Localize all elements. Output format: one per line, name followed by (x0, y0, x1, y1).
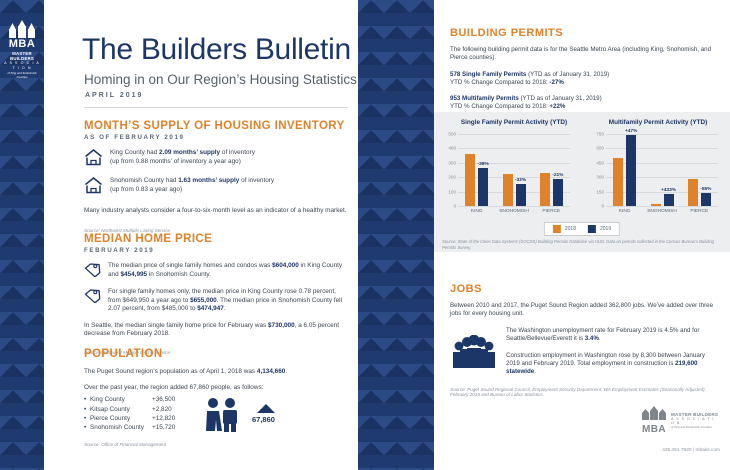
population-badge: 67,860 (252, 415, 275, 424)
issue-date: APRIL 2019 (85, 92, 143, 99)
county-value: +12,820 (152, 414, 175, 423)
inventory-1-line2: (up from 0.83 a year ago) (110, 186, 182, 193)
county-name: Snohomish County (90, 423, 152, 432)
bar-king-2019 (478, 168, 488, 206)
inventory-1-value: 1.63 months’ supply (178, 177, 239, 184)
masthead-divider (84, 107, 348, 108)
legend-label: 2018 (565, 226, 576, 232)
chart-0-title: Single Family Permit Activity (YTD) (450, 119, 578, 126)
y-axis-tick: 0 (453, 204, 456, 209)
y-axis-tick: 750 (596, 132, 604, 137)
sf-change-label: YTD % Change Compared to 2018: (450, 79, 549, 86)
bar-annotation: -21% (552, 173, 563, 178)
jobs-heading: JOBS (450, 283, 718, 295)
mf-change-value: +22% (549, 103, 565, 110)
jobs-intro: Between 2010 and 2017, the Puget Sound R… (450, 302, 718, 319)
house-icon (84, 149, 103, 171)
chart-multifamily: 0150300450600750+47%KING+433%SNOHOMISH-5… (606, 134, 718, 206)
permits-single-family: 578 Single Family Permits (YTD as of Jan… (450, 71, 718, 88)
chart-legend: 2018 2019 (544, 222, 620, 236)
county-name: Pierce County (90, 414, 152, 423)
page-subtitle: Homing in on Our Region’s Housing Statis… (84, 72, 357, 87)
page-title: The Builders Bulletin (82, 33, 351, 67)
gridline (606, 134, 718, 135)
gridline (458, 206, 570, 207)
center-chevron-band (358, 0, 434, 470)
inventory-0-text-a: King County had (110, 149, 159, 156)
county-value: +36,500 (152, 395, 175, 404)
gridline (606, 148, 718, 149)
county-name: King County (90, 395, 152, 404)
inventory-item: Snohomish County had 1.63 months’ supply… (84, 177, 348, 199)
median-price-subheading: FEBRUARY 2019 (84, 247, 348, 254)
footer-line2: A S S O C I A T I O N (671, 417, 720, 425)
county-value: +2,820 (152, 405, 172, 414)
people-icon (202, 397, 246, 438)
bar-snohomish-2018 (651, 204, 661, 206)
legend-item-2019: 2019 (588, 225, 611, 233)
jobs-source: Source: Puget Sound Regional Council, Em… (450, 387, 718, 397)
jobs-p2-c: . (534, 368, 536, 375)
logo-line1: MASTER BUILDERS (4, 51, 40, 61)
permit-charts-panel: Single Family Permit Activity (YTD) Mult… (434, 112, 730, 252)
bulletin-page: MBA MASTER BUILDERS A S S O C I A T I O … (0, 0, 730, 470)
county-name: Kitsap County (90, 405, 152, 414)
bar-pierce-2018 (688, 179, 698, 206)
logo-line3: of King and Snohomish Counties (4, 71, 40, 79)
section-inventory: MONTH’S SUPPLY OF HOUSING INVENTORY AS O… (84, 120, 348, 233)
permits-heading: BUILDING PERMITS (450, 27, 718, 39)
inventory-heading: MONTH’S SUPPLY OF HOUSING INVENTORY (84, 120, 348, 132)
population-p1-c: . (285, 368, 287, 375)
mf-permit-period: (YTD as of January 31, 2019) (519, 95, 602, 102)
x-axis-label: KING (471, 209, 483, 214)
population-p2: Over the past year, the region added 67,… (84, 384, 348, 393)
population-source: Source: Office of Financial Management (84, 442, 348, 447)
county-value: +15,720 (152, 423, 175, 432)
x-axis-label: SNOHOMISH (647, 209, 677, 214)
inventory-1-text-c: of inventory (239, 177, 274, 184)
footer-logo: MBA MASTER BUILDERS A S S O C I A T I O … (640, 406, 720, 435)
median-p1-snohomish: $454,995 (120, 271, 147, 278)
bar-annotation: +433% (661, 188, 676, 193)
population-heading: POPULATION (84, 348, 348, 360)
inventory-source: Source: Northwest Multiple Listing Servi… (84, 228, 348, 233)
mba-logo: MBA MASTER BUILDERS A S S O C I A T I O … (4, 20, 40, 79)
tag-icon (84, 288, 101, 314)
footer-logo-mark: MBA (640, 406, 668, 435)
bar-king-2018 (465, 154, 475, 206)
population-total: 4,134,660 (257, 368, 285, 375)
sf-permit-count: 578 Single Family Permits (450, 71, 526, 78)
median-p2-snohomish: $474,947 (197, 305, 224, 312)
jobs-construction: Construction employment in Washington ro… (506, 352, 718, 377)
section-population: POPULATION The Puget Sound region’s popu… (84, 348, 348, 447)
footer-roof-icon (640, 406, 668, 420)
bar-king-2018 (613, 158, 623, 206)
group-people-icon (450, 327, 498, 377)
median-p2-e: . (224, 305, 226, 312)
logo-mba-text: MBA (4, 39, 40, 50)
permits-multifamily: 953 Multifamily Permits (YTD as of Janua… (450, 95, 718, 112)
y-axis-tick: 200 (448, 175, 456, 180)
median-price-heading: MEDIAN HOME PRICE (84, 233, 348, 245)
mf-permit-count: 953 Multifamily Permits (450, 95, 519, 102)
x-axis-label: PIERCE (690, 209, 708, 214)
y-axis-tick: 0 (601, 204, 604, 209)
footer-logo-mba: MBA (640, 425, 668, 435)
gridline (606, 206, 718, 207)
population-p1: The Puget Sound region’s population as o… (84, 368, 348, 377)
inventory-0-text-c: of inventory (220, 149, 255, 156)
median-price-item: For single family homes only, the median… (84, 288, 348, 314)
bar-annotation: -38% (478, 162, 489, 167)
bar-pierce-2018 (540, 173, 550, 206)
y-axis-tick: 300 (448, 160, 456, 165)
bar-annotation: -55% (700, 187, 711, 192)
inventory-1-text-a: Snohomish County had (110, 177, 178, 184)
logo-roof-icon (7, 20, 37, 38)
footer-logo-text: MASTER BUILDERS A S S O C I A T I O N of… (671, 412, 720, 429)
y-axis-tick: 100 (448, 189, 456, 194)
inventory-0-value: 2.09 months’ supply (159, 149, 220, 156)
gridline (458, 148, 570, 149)
chart-1-title: Multifamily Permit Activity (YTD) (594, 119, 722, 126)
bar-annotation: -33% (515, 178, 526, 183)
jobs-seattle-rate: 3.4% (585, 335, 599, 342)
x-axis-label: PIERCE (542, 209, 560, 214)
bar-king-2019 (626, 135, 636, 206)
y-axis-tick: 600 (596, 146, 604, 151)
y-axis-tick: 450 (596, 160, 604, 165)
chart-source: Source: State of the Cities Data Systems… (442, 239, 722, 250)
median-p1-a: The median price of single family homes … (108, 262, 272, 269)
median-p3-a: In Seattle, the median single family hom… (84, 322, 268, 329)
legend-item-2018: 2018 (553, 225, 576, 233)
mf-change-label: YTD % Change Compared to 2018: (450, 103, 549, 110)
inventory-note: Many industry analysts consider a four-t… (84, 207, 348, 216)
bar-pierce-2019 (701, 193, 711, 206)
jobs-p1-c: . (599, 335, 601, 342)
median-p1-e: in Snohomish County. (147, 271, 211, 278)
inventory-item: King County had 2.09 months’ supply of i… (84, 149, 348, 171)
footer-line3: of King and Snohomish Counties (671, 425, 720, 429)
inventory-0-line2: (up from 0.88 months’ of inventory a yea… (110, 158, 241, 165)
bar-snohomish-2019 (516, 184, 526, 206)
bar-snohomish-2018 (503, 174, 513, 206)
median-price-item: The median price of single family homes … (84, 262, 348, 282)
x-axis-label: SNOHOMISH (499, 209, 529, 214)
median-p3: In Seattle, the median single family hom… (84, 322, 348, 339)
legend-label: 2019 (600, 226, 611, 232)
inventory-subheading: AS OF FEBRUARY 2019 (84, 134, 348, 141)
legend-swatch (553, 225, 561, 233)
tag-icon (84, 262, 101, 282)
section-building-permits: BUILDING PERMITS The following building … (450, 27, 718, 111)
jobs-p1-a: The Washington unemployment rate for Feb… (506, 327, 699, 342)
sf-change-value: -27% (549, 79, 563, 86)
bar-snohomish-2019 (664, 194, 674, 206)
x-axis-label: KING (619, 209, 631, 214)
logo-line2: A S S O C I A T I O N (4, 61, 40, 71)
permits-intro: The following building permit data is fo… (450, 46, 718, 63)
y-axis-tick: 500 (448, 132, 456, 137)
median-p2-king: $655,000 (190, 297, 217, 304)
population-p1-a: The Puget Sound region’s population as o… (84, 368, 257, 375)
median-p1-king: $604,000 (272, 262, 299, 269)
bar-pierce-2019 (553, 179, 563, 206)
jobs-unemployment: The Washington unemployment rate for Feb… (506, 327, 718, 344)
y-axis-tick: 150 (596, 189, 604, 194)
section-median-price: MEDIAN HOME PRICE FEBRUARY 2019 The medi… (84, 233, 348, 355)
sf-permit-period: (YTD as of January 31, 2019) (526, 71, 609, 78)
footer-contact: 425.451.7920 | mbaks.com (620, 448, 720, 453)
y-axis-tick: 400 (448, 146, 456, 151)
house-icon (84, 177, 103, 199)
chart-single-family: 0100200300400500-38%KING-33%SNOHOMISH-21… (458, 134, 570, 206)
bar-annotation: +47% (625, 129, 637, 134)
section-jobs: JOBS Between 2010 and 2017, the Puget So… (450, 283, 718, 397)
y-axis-tick: 300 (596, 175, 604, 180)
legend-swatch (588, 225, 596, 233)
median-p3-seattle: $730,000 (268, 322, 295, 329)
gridline (458, 134, 570, 135)
